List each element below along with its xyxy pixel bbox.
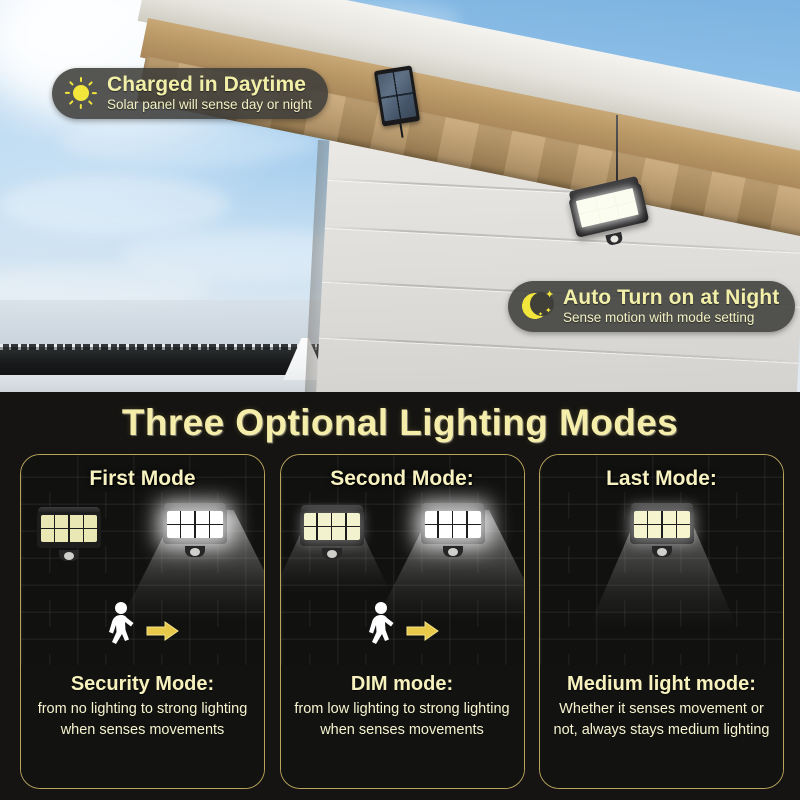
star-icon: ✦ [545,291,554,300]
badge-title: Auto Turn on at Night [563,287,779,309]
card-mode-name: Security Mode: [29,673,256,696]
lamp-bright [421,503,485,555]
card-heading: Last Mode: [540,467,783,491]
card-mode-description: from low lighting to strong lighting whe… [289,699,516,741]
lamp-off [37,507,101,559]
card-footer: DIM mode: from low lighting to strong li… [281,665,524,788]
cloud [0,175,230,235]
walking-person-icon [99,601,185,645]
badge-auto-turn-on-at-night: ✦ ✦ ✦ Auto Turn on at Night Sense motion… [508,281,795,332]
card-mode-description: Whether it senses movement or not, alway… [548,699,775,741]
hanging-cable [616,115,618,187]
badge-charged-in-daytime: Charged in Daytime Solar panel will sens… [52,68,328,119]
lamp-medium [630,503,694,555]
card-mode-description: from no lighting to strong lighting when… [29,699,256,741]
card-mode-name: DIM mode: [289,673,516,696]
badge-subtitle: Solar panel will sense day or night [107,98,312,112]
card-heading: First Mode [21,467,264,491]
moon-icon: ✦ ✦ ✦ [520,289,554,323]
horizon-haze [0,300,342,348]
badge-title: Charged in Daytime [107,74,312,96]
product-photo-scene: Charged in Daytime Solar panel will sens… [0,0,800,392]
card-footer: Security Mode: from no lighting to stron… [21,665,264,788]
mode-card-second[interactable]: Second Mode: [280,454,525,789]
lamp-dim [300,505,364,557]
star-icon: ✦ [545,306,552,315]
sun-icon [64,76,98,110]
section-title: Three Optional Lighting Modes [0,402,800,444]
infographic-page: Charged in Daytime Solar panel will sens… [0,0,800,800]
mode-cards-row: First Mode [20,454,784,789]
lighting-modes-section: Three Optional Lighting Modes First Mode [0,392,800,800]
mode-card-first[interactable]: First Mode [20,454,265,789]
lamp-bright [163,503,227,555]
badge-subtitle: Sense motion with mode setting [563,311,779,325]
star-icon: ✦ [538,311,543,320]
walking-person-icon [359,601,445,645]
card-heading: Second Mode: [281,467,524,491]
card-footer: Medium light mode: Whether it senses mov… [540,665,783,788]
card-mode-name: Medium light mode: [548,673,775,696]
mode-card-last[interactable]: Last Mode: Medium light mode: Whether it… [539,454,784,789]
